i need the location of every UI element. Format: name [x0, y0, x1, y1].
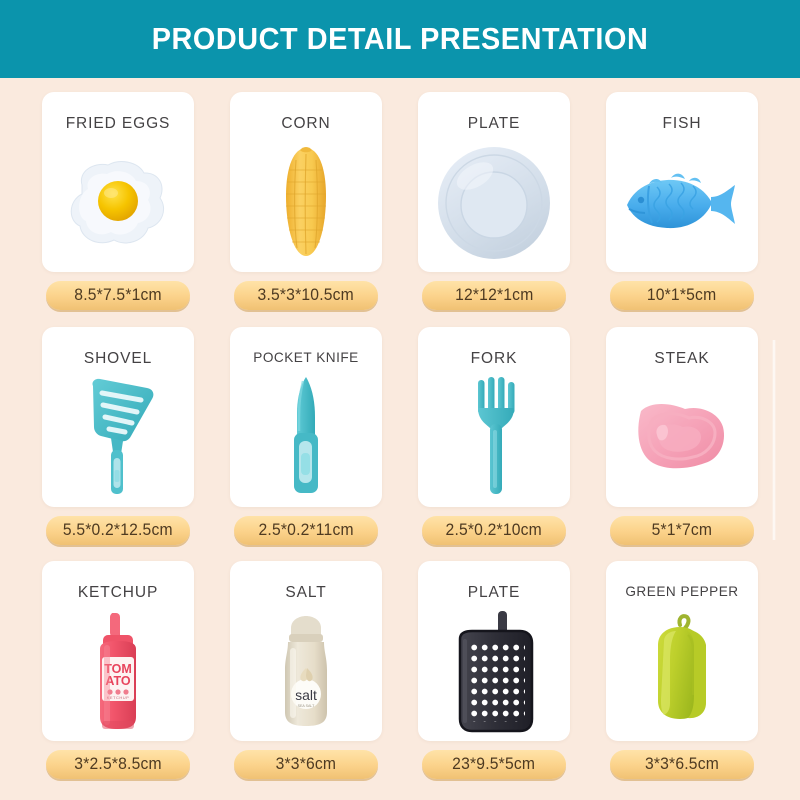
product-cell-corn[interactable]: CORN — [218, 86, 394, 321]
fish-icon — [619, 167, 745, 239]
ketchup-bottle-icon: TOM ATO KETCHUP — [83, 609, 153, 735]
size-badge: 3*3*6cm — [234, 750, 378, 779]
product-name: KETCHUP — [78, 584, 158, 602]
product-card[interactable]: SHOVEL — [42, 327, 194, 507]
size-text: 12*12*1cm — [455, 286, 533, 305]
product-card[interactable]: GREEN PEPPER — [606, 561, 758, 741]
product-cell-plate[interactable]: PLATE 12*12*1cm — [406, 86, 582, 321]
product-card[interactable]: STEAK — [606, 327, 758, 507]
product-image — [230, 133, 382, 272]
product-card[interactable]: POCKET KNIFE — [230, 327, 382, 507]
size-text: 3*3*6cm — [276, 755, 337, 774]
size-badge: 12*12*1cm — [422, 281, 566, 310]
size-text: 3.5*3*10.5cm — [258, 286, 354, 305]
product-cell-pocket-knife[interactable]: POCKET KNIFE 2.5*0.2*11cm — [218, 321, 394, 556]
size-text: 3*3*6.5cm — [645, 755, 719, 774]
product-cell-steak[interactable]: STEAK 5*1*7cm — [594, 321, 770, 556]
salt-shaker-icon: salt SEA SALT — [271, 612, 341, 732]
product-name: FORK — [471, 350, 518, 368]
product-card[interactable]: PLATE — [418, 92, 570, 272]
product-image — [418, 133, 570, 272]
size-text: 5.5*0.2*12.5cm — [63, 521, 173, 540]
product-image — [418, 602, 570, 741]
fork-icon — [466, 374, 522, 500]
product-name: CORN — [281, 115, 330, 133]
product-name: GREEN PEPPER — [625, 584, 738, 599]
product-card[interactable]: KETCHUP TOM ATO — [42, 561, 194, 741]
product-name: PLATE — [468, 115, 520, 133]
size-badge: 10*1*5cm — [610, 281, 754, 310]
size-badge: 3*3*6.5cm — [610, 750, 754, 779]
grill-pan-icon — [448, 609, 540, 735]
product-image — [42, 368, 194, 507]
product-name: SHOVEL — [84, 350, 152, 368]
product-name: FISH — [663, 115, 702, 133]
product-cell-shovel[interactable]: SHOVEL — [30, 321, 206, 556]
spatula-icon — [75, 374, 161, 500]
product-image — [42, 133, 194, 272]
product-card[interactable]: PLATE — [418, 561, 570, 741]
size-badge: 5*1*7cm — [610, 516, 754, 545]
size-text: 5*1*7cm — [652, 521, 713, 540]
corn-icon — [276, 144, 336, 262]
product-cell-fried-eggs[interactable]: FRIED EGGS 8.5*7.5*1cm — [30, 86, 206, 321]
product-name: SALT — [285, 584, 326, 602]
product-cell-salt[interactable]: SALT salt SEA SALT — [218, 555, 394, 790]
size-text: 8.5*7.5*1cm — [74, 286, 161, 305]
size-badge: 3.5*3*10.5cm — [234, 281, 378, 310]
product-image — [230, 365, 382, 507]
ketchup-label-sub: KETCHUP — [107, 695, 130, 700]
product-card[interactable]: FORK — [418, 327, 570, 507]
header-band: PRODUCT DETAIL PRESENTATION — [0, 0, 800, 78]
product-name: PLATE — [468, 584, 520, 602]
page-title: PRODUCT DETAIL PRESENTATION — [152, 21, 649, 57]
size-badge: 2.5*0.2*10cm — [422, 516, 566, 545]
size-text: 3*2.5*8.5cm — [74, 755, 161, 774]
salt-label-text: salt — [295, 687, 317, 703]
product-card[interactable]: FISH — [606, 92, 758, 272]
knife-icon — [281, 373, 331, 499]
product-card[interactable]: FRIED EGGS — [42, 92, 194, 272]
product-name: STEAK — [654, 350, 709, 368]
product-cell-fork[interactable]: FORK — [406, 321, 582, 556]
product-grid: FRIED EGGS 8.5*7.5*1cm — [0, 78, 800, 800]
size-text: 2.5*0.2*10cm — [446, 521, 542, 540]
product-card[interactable]: SALT salt SEA SALT — [230, 561, 382, 741]
product-name: FRIED EGGS — [66, 115, 171, 133]
size-text: 23*9.5*5cm — [453, 755, 536, 774]
fried-egg-icon — [60, 155, 176, 251]
product-cell-green-pepper[interactable]: GREEN PEPPER 3*3*6. — [594, 555, 770, 790]
product-image — [606, 133, 758, 272]
product-name: POCKET KNIFE — [253, 350, 358, 365]
size-badge: 3*2.5*8.5cm — [46, 750, 190, 779]
size-text: 2.5*0.2*11cm — [258, 521, 353, 540]
size-badge: 23*9.5*5cm — [422, 750, 566, 779]
product-image — [606, 368, 758, 507]
product-image: salt SEA SALT — [230, 602, 382, 741]
size-badge: 8.5*7.5*1cm — [46, 281, 190, 310]
product-cell-ketchup[interactable]: KETCHUP TOM ATO — [30, 555, 206, 790]
product-image: TOM ATO KETCHUP — [42, 602, 194, 741]
svg-text:SEA SALT: SEA SALT — [298, 704, 316, 708]
product-cell-grill-plate[interactable]: PLATE — [406, 555, 582, 790]
plate-icon — [435, 144, 553, 262]
bell-pepper-icon — [642, 611, 722, 729]
size-badge: 5.5*0.2*12.5cm — [46, 516, 190, 545]
product-image — [606, 599, 758, 741]
size-text: 10*1*5cm — [647, 286, 716, 305]
product-image — [418, 368, 570, 507]
size-badge: 2.5*0.2*11cm — [234, 516, 378, 545]
product-card[interactable]: CORN — [230, 92, 382, 272]
product-cell-fish[interactable]: FISH — [594, 86, 770, 321]
steak-icon — [627, 393, 737, 481]
